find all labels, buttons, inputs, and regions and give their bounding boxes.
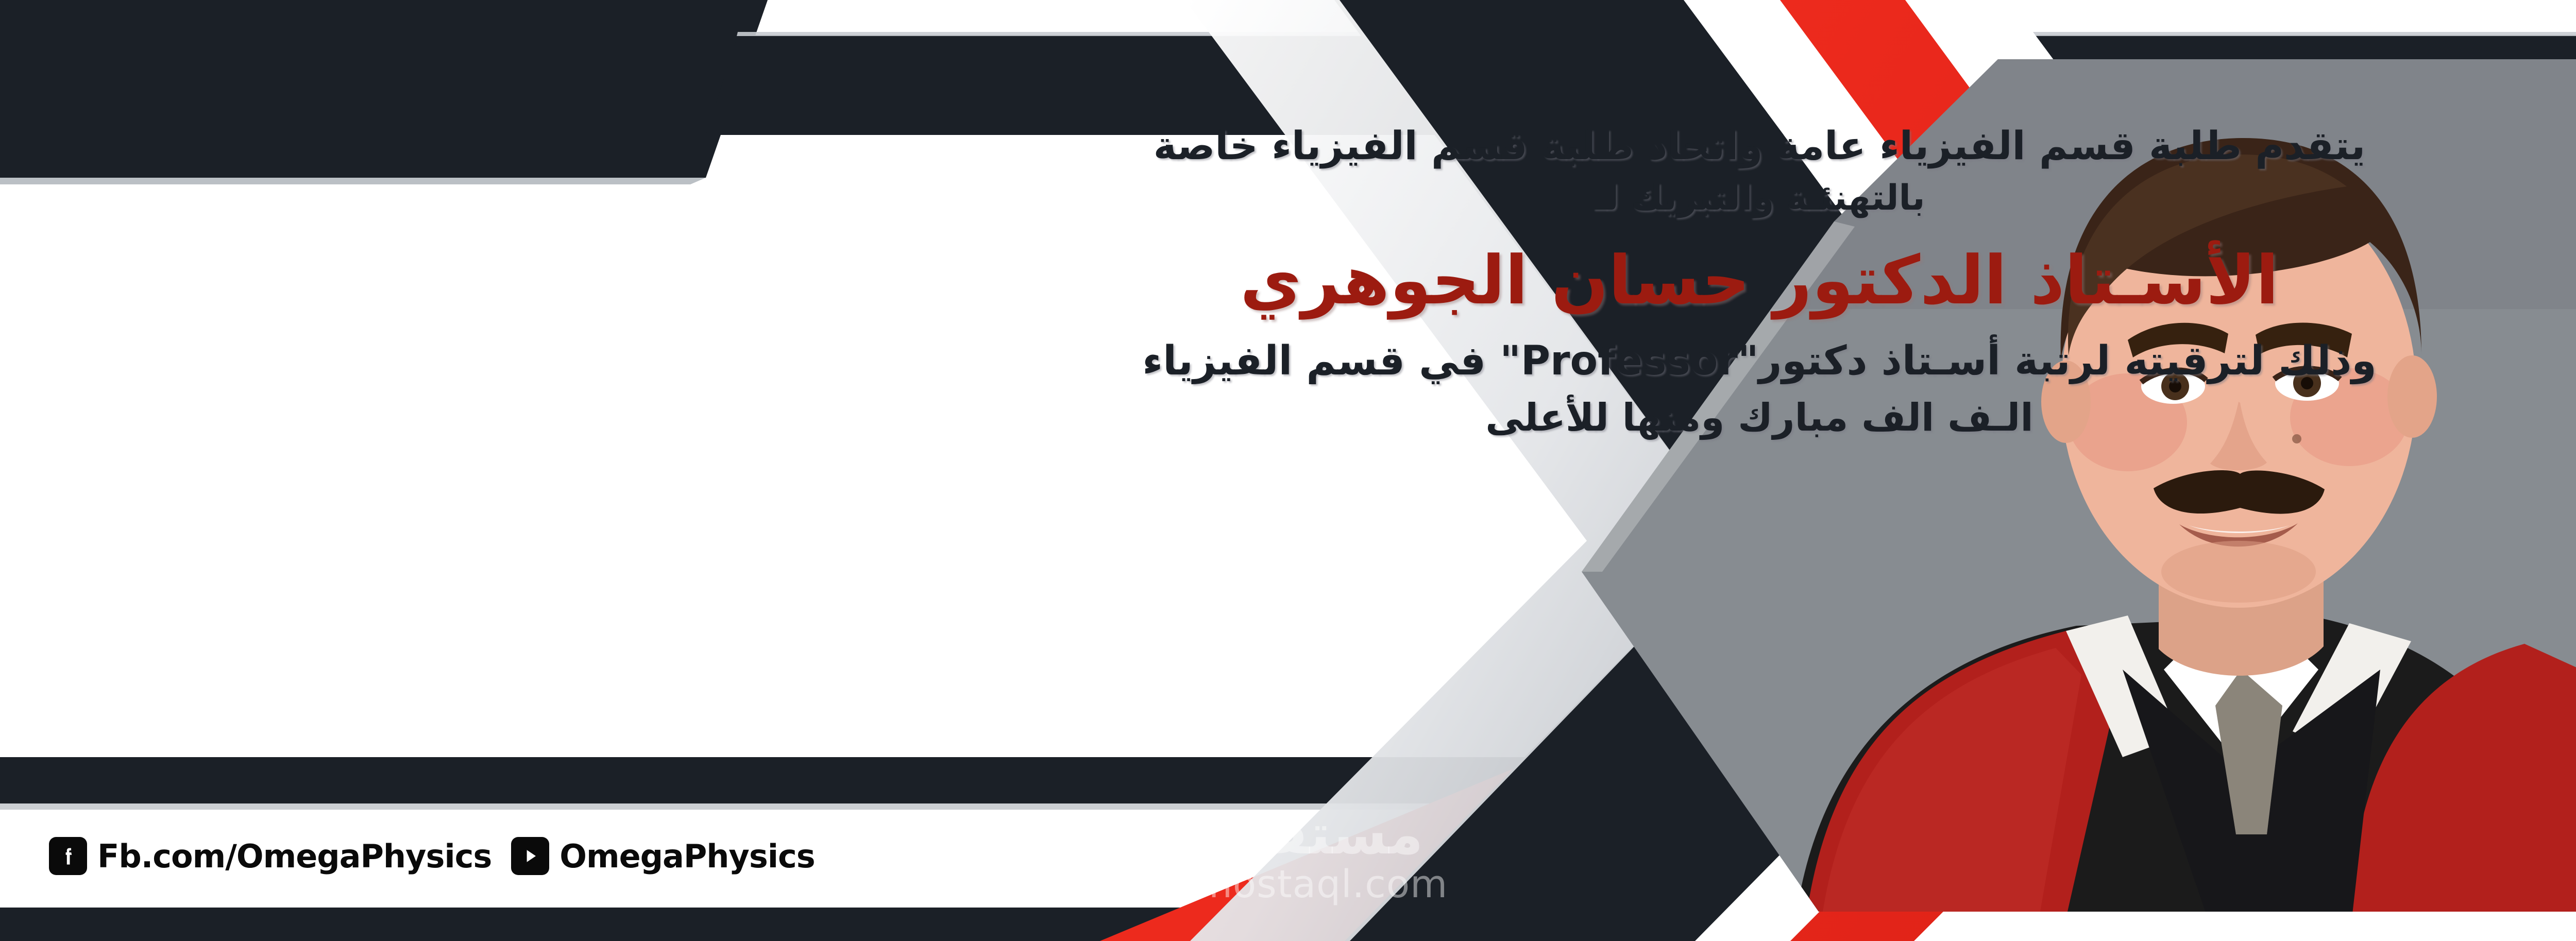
message-text-block: يتقدم طلبة قسم الفيزياء عامة واتحاد طلبة… [1025, 118, 2494, 446]
banner-canvas: يتقدم طلبة قسم الفيزياء عامة واتحاد طلبة… [0, 0, 2576, 941]
subtext-line-2: الـف الف مبارك ومنها للأعلى [1025, 390, 2494, 446]
facebook-handle[interactable]: Fb.com/OmegaPhysics [97, 837, 492, 875]
facebook-link[interactable]: Fb.com/OmegaPhysics [49, 837, 492, 875]
chevron-dark-small-top [1319, 0, 1342, 10]
youtube-handle[interactable]: OmegaPhysics [560, 837, 815, 875]
youtube-link[interactable]: OmegaPhysics [511, 837, 815, 875]
top-left-dark-shape [0, 0, 768, 184]
body-line-1: يتقدم طلبة قسم الفيزياء عامة واتحاد طلبة… [1025, 118, 2494, 173]
headline-name: الأسـتاذ الدكتور حسان الجوهري [1025, 231, 2494, 329]
body-line-2: بالتهنئـة والتبريك لـ [1025, 173, 2494, 224]
social-links: Fb.com/OmegaPhysics OmegaPhysics [49, 837, 815, 875]
facebook-icon[interactable] [49, 837, 87, 875]
subtext-line-1: وذلك لترقيته لرتبة أسـتاذ دكتور"Professo… [1025, 332, 2494, 390]
youtube-icon[interactable] [511, 837, 549, 875]
